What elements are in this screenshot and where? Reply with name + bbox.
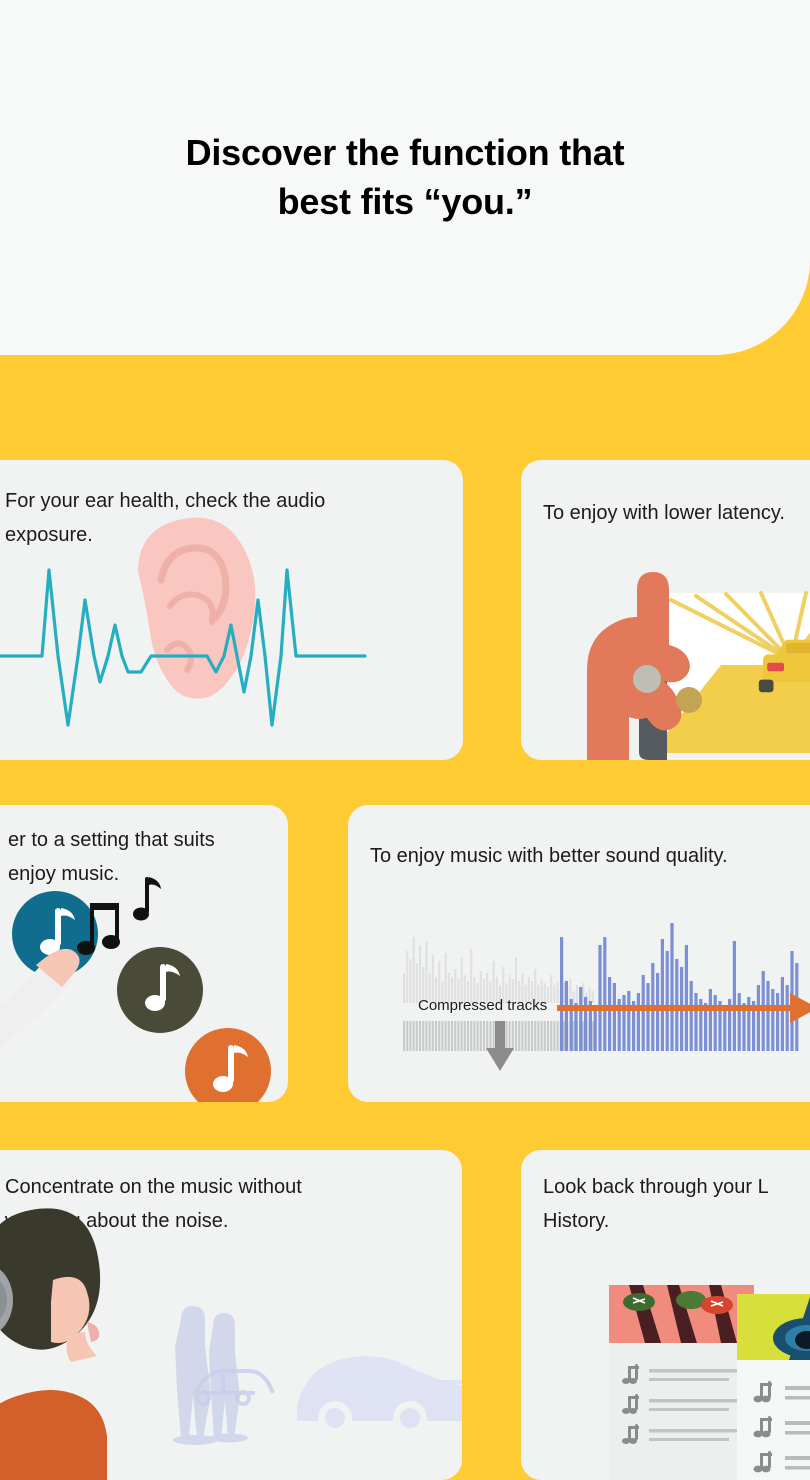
page-root: Discover the function that best fits “yo… xyxy=(0,0,810,1440)
card-equalizer[interactable]: er to a setting that suits enjoy music. xyxy=(0,805,288,1102)
card-noise-cancelling[interactable]: Concentrate on the music without worryin… xyxy=(0,1150,462,1480)
album-history-illustration xyxy=(521,1150,810,1480)
hand-phone-racing-game-illustration xyxy=(521,460,810,760)
card-low-latency[interactable]: To enjoy with lower latency. xyxy=(521,460,810,760)
page-title-line-2: best fits “you.” xyxy=(0,177,810,226)
page-title-line-1: Discover the function that xyxy=(186,132,625,173)
page-title: Discover the function that best fits “yo… xyxy=(0,128,810,226)
album-art-abstract xyxy=(737,1294,810,1360)
upscaled-bars xyxy=(560,923,798,1051)
hero-panel: Discover the function that best fits “yo… xyxy=(0,0,810,355)
person-headphones-street-illustration xyxy=(0,1150,462,1480)
card-listening-history[interactable]: Look back through your L History. xyxy=(521,1150,810,1480)
card-sound-quality[interactable]: To enjoy music with better sound quality… xyxy=(348,805,810,1102)
waveform-comparison-chart xyxy=(348,805,810,1102)
compressed-tracks-label: Compressed tracks xyxy=(418,997,547,1014)
person-music-circles-illustration xyxy=(0,805,288,1102)
ear-waveform-illustration xyxy=(0,460,463,760)
card-audio-exposure[interactable]: For your ear health, check the audio exp… xyxy=(0,460,463,760)
history-panel-front xyxy=(737,1294,810,1480)
history-panel-back xyxy=(609,1285,754,1480)
listener-figure xyxy=(0,1208,107,1480)
